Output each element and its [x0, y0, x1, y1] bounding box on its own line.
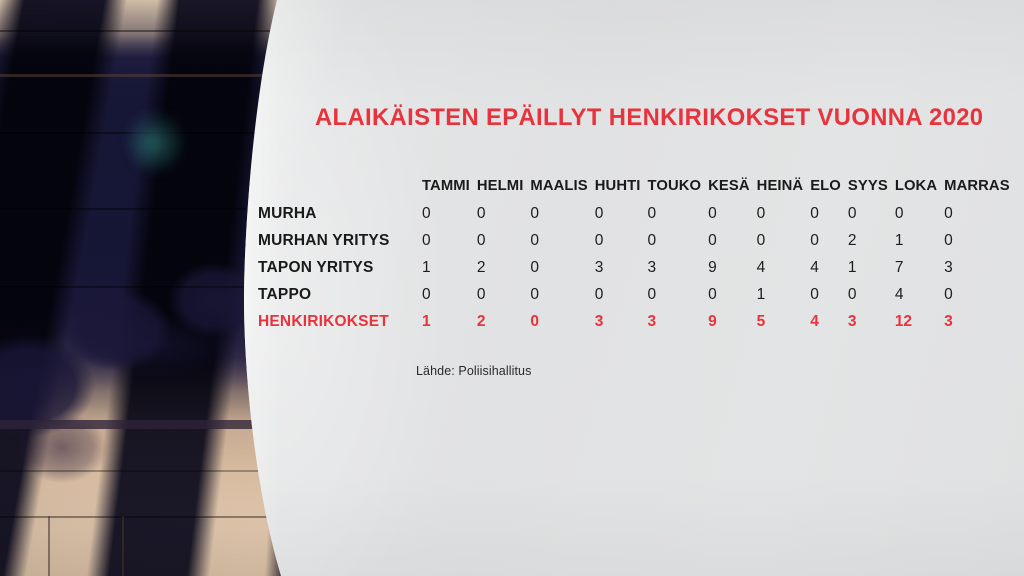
cell-value: 0 [595, 281, 648, 308]
infographic-stage: ALAIKÄISTEN EPÄILLYT HENKIRIKOKSET VUONN… [0, 0, 1024, 576]
cell-value: 0 [810, 200, 848, 227]
column-header-elo: ELO [810, 172, 848, 200]
cell-value: 1 [757, 281, 811, 308]
table-header: TAMMIHELMIMAALISHUHTITOUKOKESÄHEINÄELOSY… [258, 172, 1017, 200]
cell-value: 0 [647, 281, 708, 308]
cell-value: 0 [595, 227, 648, 254]
column-header-helmi: HELMI [477, 172, 531, 200]
cell-value: 0 [708, 227, 757, 254]
table-row: TAPON YRITYS12033944173 [258, 254, 1017, 281]
cell-value: 3 [647, 308, 708, 335]
column-header-loka: LOKA [895, 172, 944, 200]
cell-value: 0 [848, 281, 895, 308]
source-note: Lähde: Poliisihallitus [416, 364, 531, 378]
cell-value: 3 [595, 308, 648, 335]
page-title: ALAIKÄISTEN EPÄILLYT HENKIRIKOKSET VUONN… [315, 104, 983, 132]
cell-value: 0 [944, 227, 1017, 254]
cell-value: 0 [530, 281, 594, 308]
table-row: TAPPO00000010040 [258, 281, 1017, 308]
cell-value: 0 [477, 281, 531, 308]
row-label-tappo: TAPPO [258, 281, 422, 308]
table-row: MURHAN YRITYS00000000210 [258, 227, 1017, 254]
table-row: HENKIRIKOKSET120339543123 [258, 308, 1017, 335]
cell-value: 4 [895, 281, 944, 308]
cell-value: 0 [422, 281, 477, 308]
cell-value: 0 [647, 227, 708, 254]
cell-value: 0 [944, 281, 1017, 308]
cell-value: 0 [422, 227, 477, 254]
column-header-heinä: HEINÄ [757, 172, 811, 200]
cell-value: 3 [944, 254, 1017, 281]
cell-value: 3 [595, 254, 648, 281]
column-header-huhti: HUHTI [595, 172, 648, 200]
cell-value: 2 [848, 227, 895, 254]
cell-value: 1 [422, 308, 477, 335]
cell-value: 0 [422, 200, 477, 227]
cell-value: 1 [895, 227, 944, 254]
cell-value: 0 [848, 200, 895, 227]
table-body: MURHA00000000000MURHAN YRITYS00000000210… [258, 200, 1017, 335]
row-label-murhan-yritys: MURHAN YRITYS [258, 227, 422, 254]
cell-value: 3 [848, 308, 895, 335]
cell-value: 0 [708, 200, 757, 227]
cell-value: 9 [708, 308, 757, 335]
cell-value: 3 [647, 254, 708, 281]
cell-value: 2 [477, 254, 531, 281]
cell-value: 7 [895, 254, 944, 281]
cell-value: 0 [595, 200, 648, 227]
cell-value: 1 [422, 254, 477, 281]
cell-value: 0 [530, 308, 594, 335]
card-content: ALAIKÄISTEN EPÄILLYT HENKIRIKOKSET VUONN… [236, 0, 1024, 576]
cell-value: 0 [895, 200, 944, 227]
column-header-syys: SYYS [848, 172, 895, 200]
cell-value: 3 [944, 308, 1017, 335]
cell-value: 0 [708, 281, 757, 308]
column-header-kesä: KESÄ [708, 172, 757, 200]
row-label-henkirikokset: HENKIRIKOKSET [258, 308, 422, 335]
cell-value: 4 [810, 308, 848, 335]
table-corner-cell [258, 172, 422, 200]
row-label-murha: MURHA [258, 200, 422, 227]
cell-value: 9 [708, 254, 757, 281]
cell-value: 2 [477, 308, 531, 335]
cell-value: 12 [895, 308, 944, 335]
cell-value: 0 [757, 200, 811, 227]
cell-value: 5 [757, 308, 811, 335]
cell-value: 0 [477, 200, 531, 227]
cell-value: 0 [757, 227, 811, 254]
cell-value: 4 [757, 254, 811, 281]
column-header-maalis: MAALIS [530, 172, 594, 200]
cell-value: 0 [477, 227, 531, 254]
cell-value: 1 [848, 254, 895, 281]
cell-value: 0 [810, 227, 848, 254]
column-header-touko: TOUKO [647, 172, 708, 200]
column-header-tammi: TAMMI [422, 172, 477, 200]
cell-value: 0 [810, 281, 848, 308]
cell-value: 4 [810, 254, 848, 281]
cell-value: 0 [530, 254, 594, 281]
row-label-tapon-yritys: TAPON YRITYS [258, 254, 422, 281]
table-row: MURHA00000000000 [258, 200, 1017, 227]
cell-value: 0 [530, 200, 594, 227]
cell-value: 0 [530, 227, 594, 254]
cell-value: 0 [944, 200, 1017, 227]
column-header-marras: MARRAS [944, 172, 1017, 200]
homicide-table: TAMMIHELMIMAALISHUHTITOUKOKESÄHEINÄELOSY… [258, 172, 1017, 335]
table-header-row: TAMMIHELMIMAALISHUHTITOUKOKESÄHEINÄELOSY… [258, 172, 1017, 200]
cell-value: 0 [647, 200, 708, 227]
